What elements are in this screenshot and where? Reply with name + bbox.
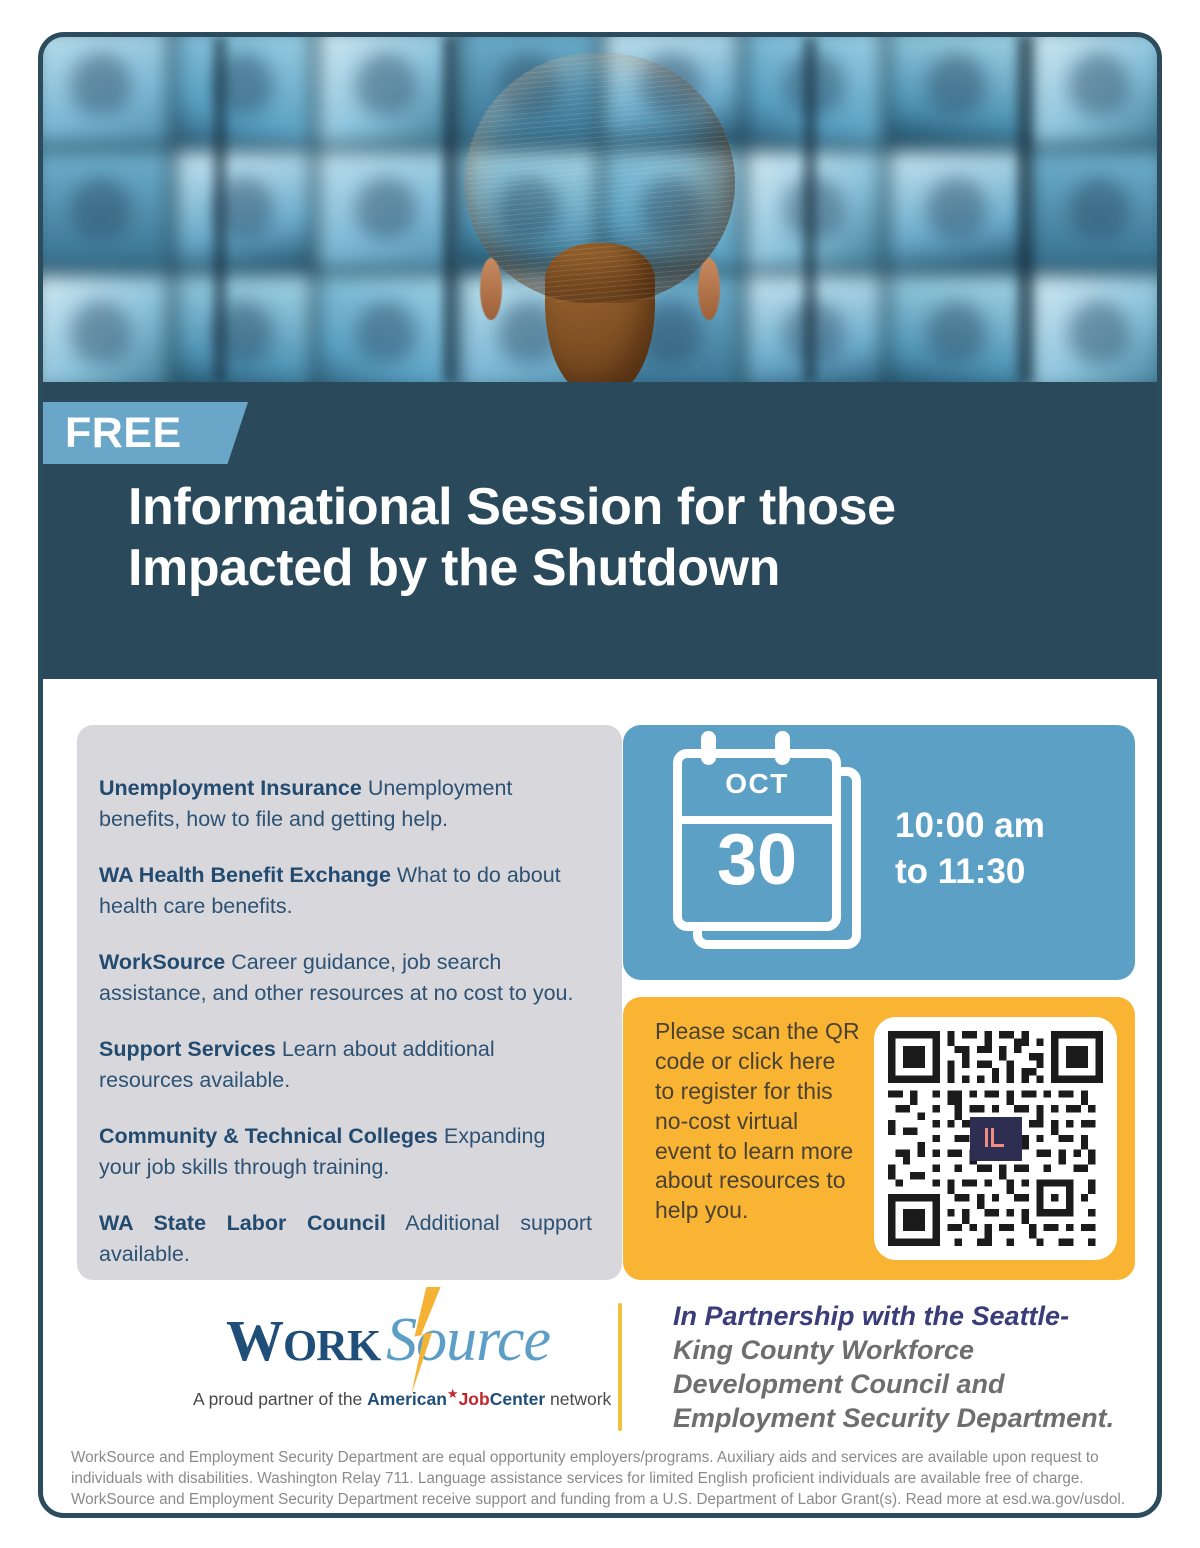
partnership-line-1: In Partnership with the Seattle- <box>673 1301 1069 1331</box>
partnership-line-3: Development Council and <box>673 1367 1153 1401</box>
topics-panel: Unemployment Insurance Unemployment bene… <box>77 725 622 1280</box>
logo-work-text: WORK <box>226 1308 380 1373</box>
page-title: Informational Session for those Impacted… <box>128 477 1088 600</box>
topic-item: Community & Technical Colleges Expanding… <box>99 1121 592 1182</box>
qr-code-image[interactable] <box>888 1031 1103 1246</box>
worksource-wordmark: WORK Source <box>226 1305 550 1376</box>
page-title-line-1: Informational Session for those <box>128 477 1088 538</box>
footer-logo-row: WORK Source A proud partner of the Ameri… <box>43 1299 1157 1459</box>
tagline-center: Center <box>490 1389 545 1409</box>
topic-item: WA State Labor Council Additional suppor… <box>99 1208 592 1269</box>
topic-heading: Unemployment Insurance <box>99 776 362 800</box>
event-time-start: 10:00 am <box>895 803 1045 849</box>
fineprint-line-3: WorkSource and Employment Security Depar… <box>71 1489 1131 1510</box>
free-badge: FREE <box>43 402 248 464</box>
partnership-line-2: King County Workforce <box>673 1333 1153 1367</box>
event-time-end: to 11:30 <box>895 849 1045 895</box>
event-time: 10:00 am to 11:30 <box>895 803 1045 895</box>
calendar-month: OCT <box>682 768 832 800</box>
worksource-logo: WORK Source A proud partner of the Ameri… <box>193 1305 583 1410</box>
partnership-line-4: Employment Security Department. <box>673 1401 1153 1435</box>
free-badge-label: FREE <box>43 409 182 458</box>
poster-root: FREE Informational Session for those Imp… <box>0 0 1200 1548</box>
vertical-divider <box>618 1303 622 1431</box>
hero-photo <box>43 37 1157 382</box>
qr-code[interactable] <box>874 1017 1117 1260</box>
fineprint-line-1: WorkSource and Employment Security Depar… <box>71 1447 1131 1468</box>
person-silhouette <box>450 53 750 382</box>
tagline-american: American <box>367 1389 447 1409</box>
star-icon: ★ <box>447 1386 459 1402</box>
topic-item: WorkSource Career guidance, job search a… <box>99 947 592 1008</box>
event-datetime-box: OCT 30 10:00 am to 11:30 <box>623 725 1135 980</box>
tagline-prefix: A proud partner of the <box>193 1389 367 1409</box>
poster-frame: FREE Informational Session for those Imp… <box>38 32 1162 1518</box>
logo-source-text: Source <box>386 1306 550 1374</box>
qr-instructions: Please scan the QR code or click here to… <box>655 1017 860 1226</box>
partnership-text: In Partnership with the Seattle- King Co… <box>673 1299 1153 1435</box>
register-qr-box[interactable]: Please scan the QR code or click here to… <box>623 997 1135 1280</box>
topic-heading: WorkSource <box>99 950 225 974</box>
tagline-suffix: network <box>545 1389 611 1409</box>
ajc-tagline: A proud partner of the American★JobCente… <box>193 1386 583 1410</box>
topic-item: WA Health Benefit Exchange What to do ab… <box>99 860 592 921</box>
calendar-icon: OCT 30 <box>671 747 871 959</box>
tagline-job: Job <box>459 1389 490 1409</box>
topic-item: Support Services Learn about additional … <box>99 1034 592 1095</box>
topic-heading: WA State Labor Council <box>99 1211 386 1235</box>
topic-heading: Support Services <box>99 1037 276 1061</box>
calendar-day: 30 <box>682 824 832 896</box>
legal-fineprint: WorkSource and Employment Security Depar… <box>71 1447 1131 1510</box>
qr-center-logo-icon <box>970 1117 1022 1161</box>
title-band: FREE Informational Session for those Imp… <box>43 382 1157 679</box>
topic-item: Unemployment Insurance Unemployment bene… <box>99 773 592 834</box>
page-title-line-2: Impacted by the Shutdown <box>128 538 1088 599</box>
topic-heading: WA Health Benefit Exchange <box>99 863 391 887</box>
topic-heading: Community & Technical Colleges <box>99 1124 438 1148</box>
body-area: Unemployment Insurance Unemployment bene… <box>43 679 1157 1513</box>
fineprint-line-2: individuals with disabilities. Washingto… <box>71 1468 1131 1489</box>
